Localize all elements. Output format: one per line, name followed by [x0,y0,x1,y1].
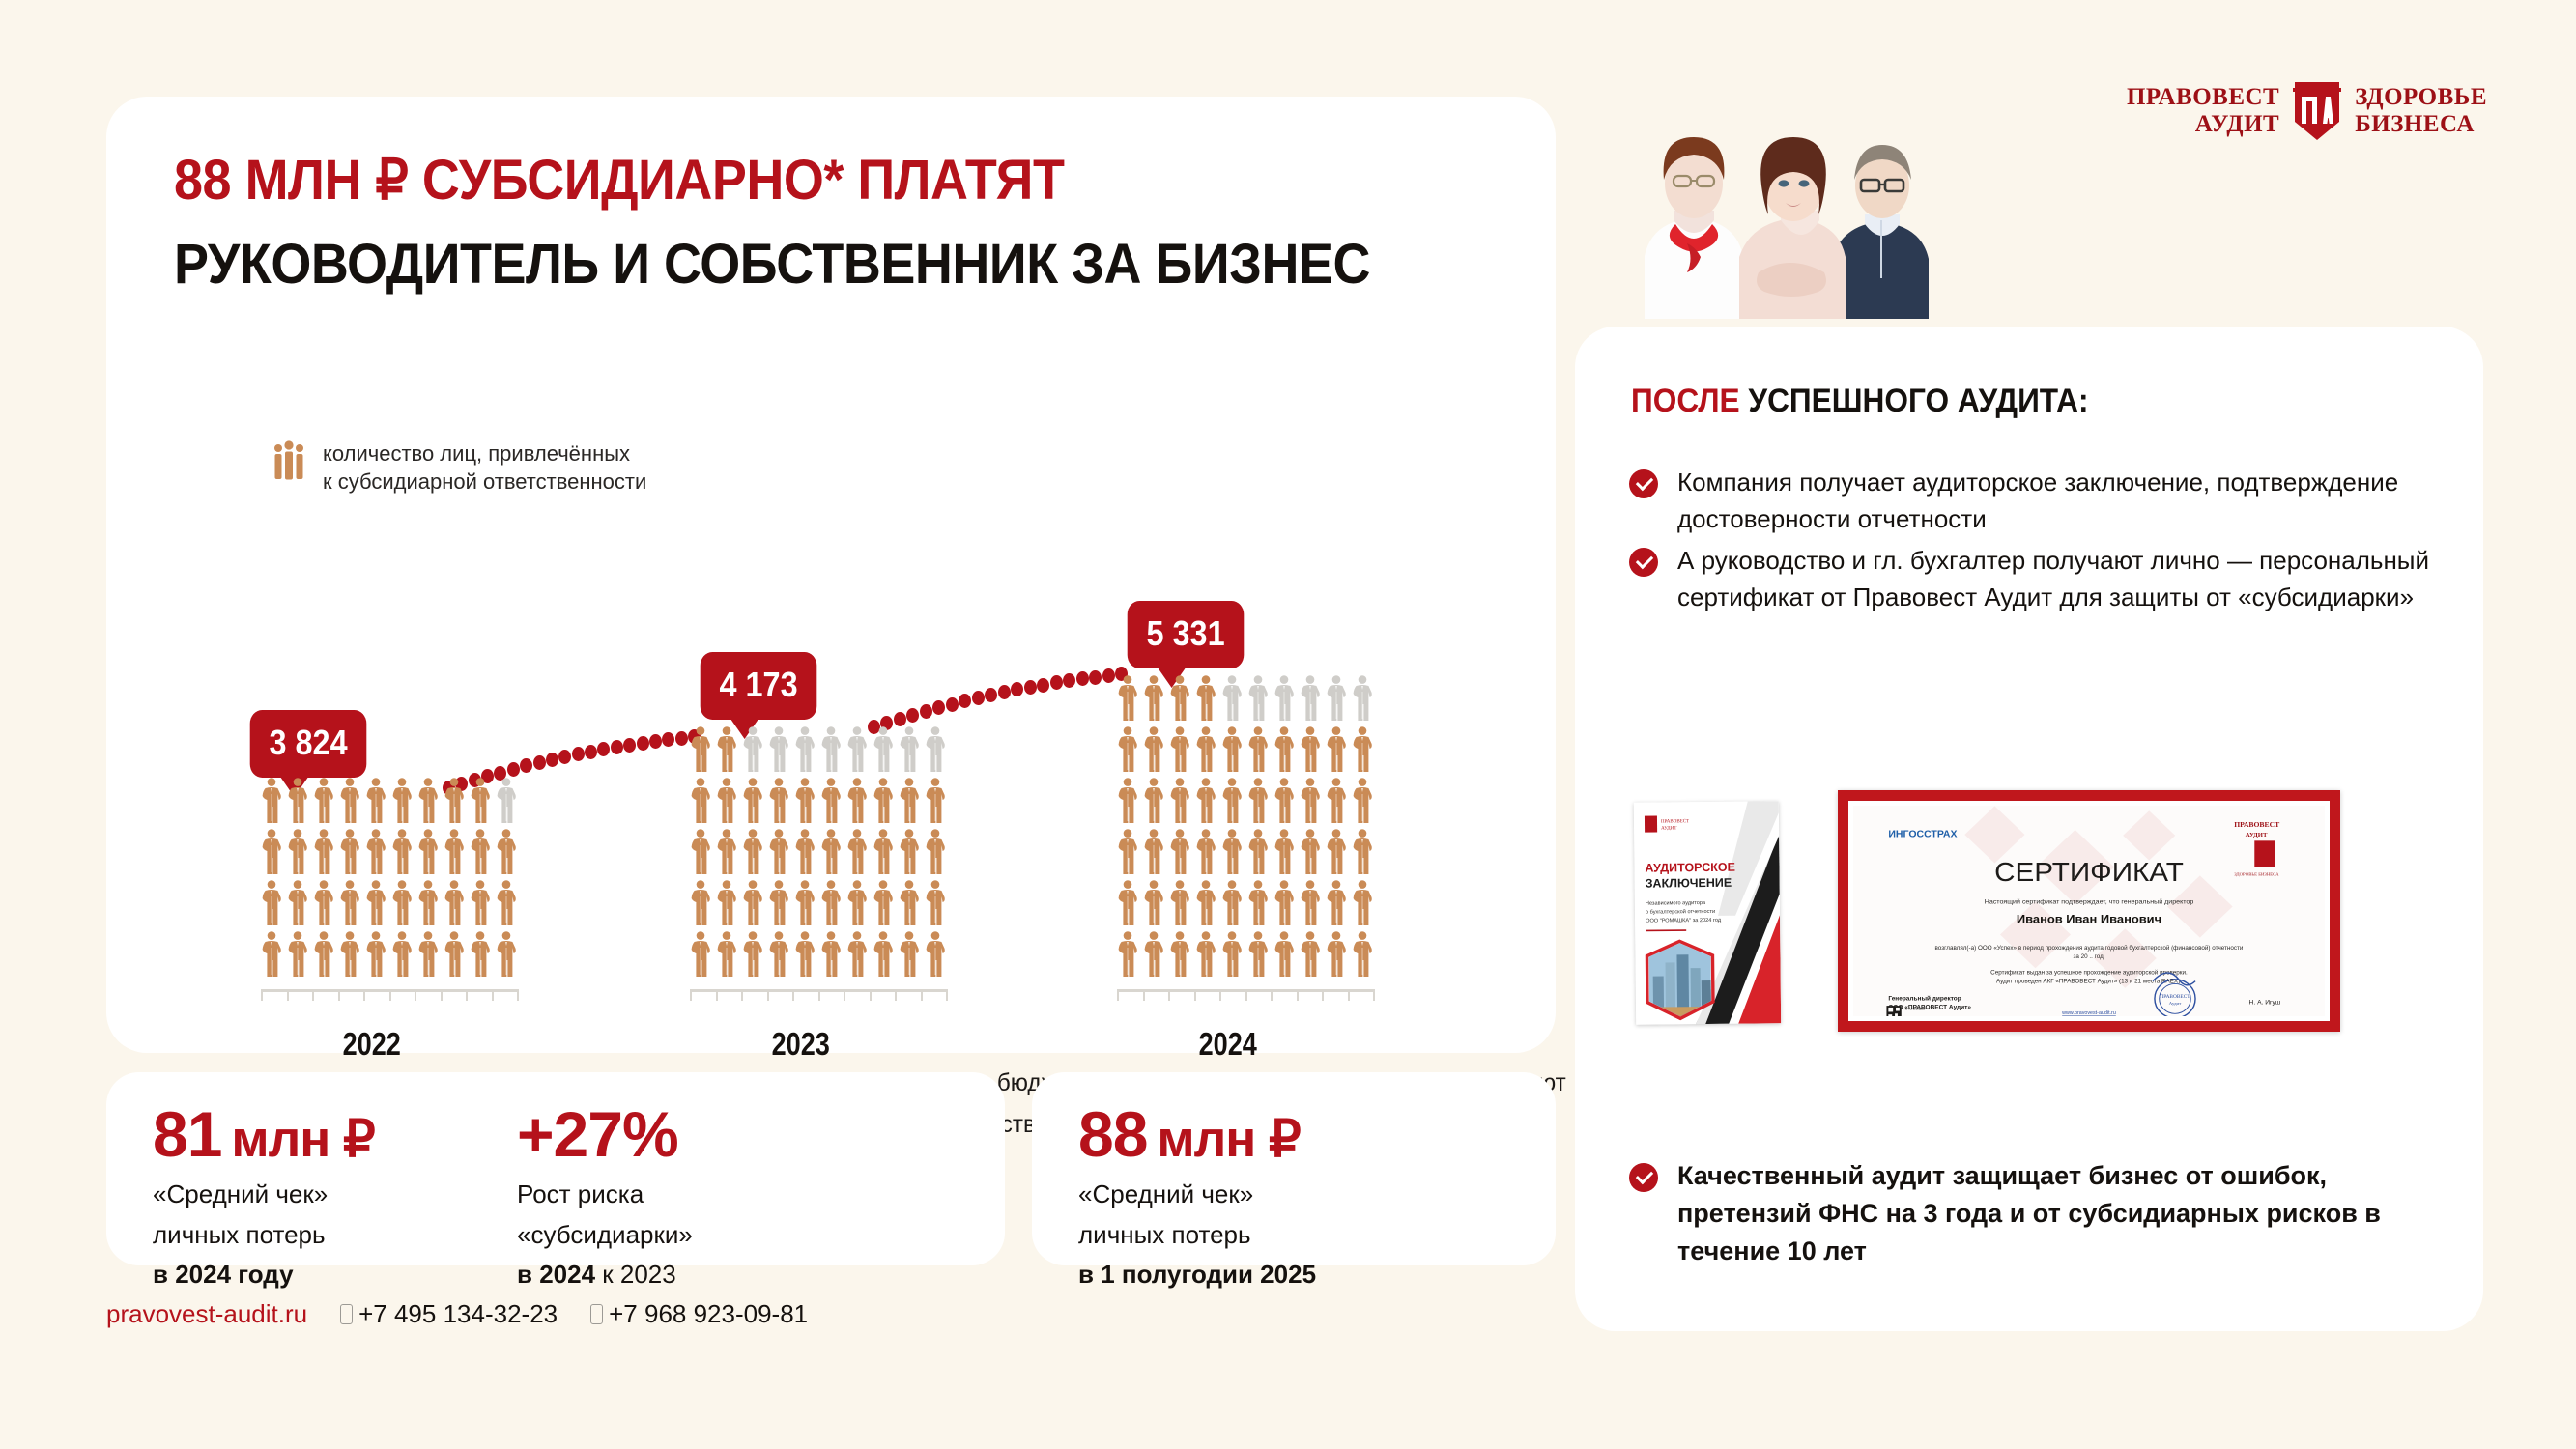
svg-text:АУДИТ: АУДИТ [2246,832,2268,838]
axis-label-2024: 2024 [1199,1026,1257,1063]
person-icon [365,931,386,978]
pictogram-row [261,931,517,978]
person-icon [1247,829,1269,875]
person-icon [1221,880,1243,926]
axis-tick [287,989,289,1001]
svg-text:ЗАКЛЮЧЕНИЕ: ЗАКЛЮЧЕНИЕ [1646,876,1732,891]
person-icon [690,829,711,875]
person-icon [339,778,360,824]
phone-1-label: +7 495 134-32-23 [358,1299,558,1329]
footer-contacts: pravovest-audit.ru +7 495 134-32-23 +7 9… [106,1299,808,1329]
pictogram-row [1117,778,1373,824]
axis-tick [690,989,692,1001]
axis-tick [415,989,416,1001]
stat-line-3: в 2024 году [153,1255,375,1295]
person-icon [846,880,868,926]
stat-card-plus27: +27% Рост риска «субсидиарки» в 2024 к 2… [517,1097,693,1295]
person-icon [1300,829,1321,875]
axis-tick [1297,989,1299,1001]
axis-tick [1219,989,1221,1001]
trend-dot [1063,673,1075,688]
person-icon [365,880,386,926]
check-circle-icon [1629,1163,1658,1192]
pictogram-rows [690,726,946,978]
person-icon [1326,675,1347,722]
trend-dot [572,747,585,761]
person-icon [768,931,789,978]
trend-dot [637,736,649,751]
person-icon [742,778,763,824]
trend-dot [611,740,623,754]
person-icon [313,829,334,875]
person-icon [287,778,308,824]
stat-value-27: +27% [517,1097,693,1171]
trend-dot [1011,682,1023,696]
person-icon [1169,829,1190,875]
shield-logo-icon [2292,79,2342,143]
person-icon [1169,675,1190,722]
person-icon [1169,726,1190,773]
axis-tick [1194,989,1196,1001]
person-icon [716,829,737,875]
axis-tick [389,989,391,1001]
person-icon [339,880,360,926]
phone-1[interactable]: +7 495 134-32-23 [340,1299,558,1329]
trend-dot [520,758,532,773]
person-icon [1247,726,1269,773]
audit-report-cover: ПРАВОВЕСТ АУДИТ АУДИТОРСКОЕ ЗАКЛЮЧЕНИЕ Н… [1634,801,1781,1025]
person-icon [1352,880,1373,926]
person-icon [444,931,465,978]
trend-dot [894,712,906,726]
axis-tick [1143,989,1145,1001]
person-icon [899,778,920,824]
person-icon [444,778,465,824]
person-icon [1326,726,1347,773]
trend-dot [558,750,571,764]
pictogram-row [261,829,517,875]
person-icon [1143,880,1164,926]
person-icon [1326,778,1347,824]
person-icon [1274,931,1295,978]
person-icon [470,931,491,978]
trend-dot [985,688,997,702]
people-group-icon [272,440,305,482]
person-icon [391,880,413,926]
trend-dot [959,694,971,708]
axis-tick [466,989,468,1001]
axis-tick [517,989,519,1001]
person-icon [1300,675,1321,722]
person-icon [873,880,894,926]
axis-tick [261,989,263,1001]
trend-dot [1024,680,1037,695]
trend-dot [998,685,1011,699]
logo-right-text: ЗДОРОВЬЕ БИЗНЕСА [2355,84,2487,138]
person-icon [287,880,308,926]
benefits-list: Компания получает аудиторское заключение… [1629,464,2431,620]
person-icon [1143,726,1164,773]
svg-text:АУДИТОРСКОЕ: АУДИТОРСКОЕ [1645,861,1735,875]
person-icon [1326,880,1347,926]
person-icon [768,778,789,824]
trend-dot [1089,670,1102,685]
person-icon [339,931,360,978]
person-icon [925,829,946,875]
person-icon [417,778,439,824]
person-icon [1221,829,1243,875]
axis-tick [1373,989,1375,1001]
axis-tick [921,989,923,1001]
person-icon [391,829,413,875]
person-icon [1274,829,1295,875]
chart-legend-label: количество лиц, привлечённых к субсидиар… [323,440,646,496]
axis-label-2022: 2022 [343,1026,401,1063]
trend-dot [675,731,688,746]
person-icon [496,931,517,978]
personal-certificate: ИНГОССТРАХ ПРАВОВЕСТ АУДИТ ЗДОРОВЬЕ БИЗН… [1838,790,2340,1032]
certificate-images: ПРАВОВЕСТ АУДИТ АУДИТОРСКОЕ ЗАКЛЮЧЕНИЕ Н… [1635,790,2447,1138]
person-icon [768,726,789,773]
person-icon [470,778,491,824]
stat-card-88mln: 88млн ₽ «Средний чек» личных потерь в 1 … [1032,1072,1556,1265]
axis-tick [792,989,794,1001]
person-icon [690,931,711,978]
person-icon [925,726,946,773]
person-icon [873,778,894,824]
person-icon [1247,675,1269,722]
person-icon [716,726,737,773]
pictogram-row [261,778,517,824]
person-icon [846,726,868,773]
person-icon [1195,829,1216,875]
trend-dot [597,742,610,756]
chart-axis [261,989,517,1005]
person-icon [1352,931,1373,978]
person-icon [261,931,282,978]
stat-value-88: 88млн ₽ [1078,1097,1316,1171]
pictogram-rows [261,778,517,978]
person-icon [1143,675,1164,722]
person-icon [287,931,308,978]
axis-tick [1117,989,1119,1001]
person-icon [287,829,308,875]
stat-line-1: Рост риска [517,1175,693,1215]
pictogram-row [261,880,517,926]
pictogram-row [1117,931,1373,978]
person-icon [899,880,920,926]
axis-tick [1245,989,1247,1001]
stat-line-2: «субсидиарки» [517,1215,693,1256]
person-icon [925,778,946,824]
person-icon [794,726,816,773]
person-icon [1117,829,1138,875]
person-icon [716,880,737,926]
person-icon [1169,778,1190,824]
person-icon [1221,675,1243,722]
heading-red-part: ПОСЛЕ [1631,383,1740,419]
website-link[interactable]: pravovest-audit.ru [106,1299,307,1329]
person-icon [496,778,517,824]
svg-text:Аудит: Аудит [2169,1002,2181,1007]
svg-text:www.pravovest-audit.ru: www.pravovest-audit.ru [2062,1010,2116,1016]
person-icon [417,829,439,875]
phone-2-label: +7 968 923-09-81 [609,1299,808,1329]
list-item: А руководство и гл. бухгалтер получают л… [1629,542,2431,616]
svg-text:ЗДОРОВЬЕ БИЗНЕСА: ЗДОРОВЬЕ БИЗНЕСА [2234,873,2279,878]
final-benefit: Качественный аудит защищает бизнес от ош… [1629,1157,2450,1270]
value-badge-2023: 4 173 [701,652,817,720]
person-icon [1352,778,1373,824]
svg-text:Независимого аудитора: Независимого аудитора [1646,900,1706,907]
page-title-black: РУКОВОДИТЕЛЬ И СОБСТВЕННИК ЗА БИЗНЕС [174,232,1370,297]
axis-tick [946,989,948,1001]
axis-tick [1168,989,1170,1001]
trend-dot [546,753,558,767]
person-icon [690,880,711,926]
svg-text:Настоящий сертификат подтвержд: Настоящий сертификат подтверждает, что г… [1985,898,2194,906]
person-icon [742,880,763,926]
person-icon [1117,675,1138,722]
phone-2[interactable]: +7 968 923-09-81 [590,1299,808,1329]
after-audit-card: ПОСЛЕ УСПЕШНОГО АУДИТА: Компания получае… [1575,327,2483,1331]
person-icon [1326,829,1347,875]
axis-tick [741,989,743,1001]
pictogram-column-2023 [690,726,946,1005]
person-icon [1117,726,1138,773]
mobile-phone-icon [590,1304,603,1324]
person-icon [768,829,789,875]
axis-tick [767,989,769,1001]
person-icon [1300,931,1321,978]
person-icon [1195,931,1216,978]
person-icon [313,880,334,926]
person-icon [846,778,868,824]
person-icon [1117,931,1138,978]
trend-dot [1037,678,1049,693]
person-icon [1169,880,1190,926]
pictogram-column-2022 [261,778,517,1005]
check-circle-icon [1629,548,1658,577]
person-icon [794,880,816,926]
axis-tick [312,989,314,1001]
person-icon [1274,726,1295,773]
person-icon [899,829,920,875]
list-item: Компания получает аудиторское заключение… [1629,464,2431,538]
svg-text:АУДИТ: АУДИТ [1661,826,1676,831]
person-icon [794,778,816,824]
stat-value-81: 81млн ₽ [153,1097,375,1171]
svg-text:возглавлял(-а) ООО «Успех» в п: возглавлял(-а) ООО «Успех» в период прох… [1935,945,2244,952]
axis-tick [441,989,443,1001]
trend-dot [932,700,945,715]
person-icon [1247,880,1269,926]
svg-text:о бухгалтерской отчетности: о бухгалтерской отчетности [1646,908,1715,916]
svg-text:г. Москва: г. Москва [1905,1007,1926,1011]
after-audit-heading: ПОСЛЕ УСПЕШНОГО АУДИТА: [1631,383,2088,420]
stat-line-2: личных потерь [1078,1215,1316,1256]
stat-line-2: личных потерь [153,1215,375,1256]
svg-text:Иванов Иван Иванович: Иванов Иван Иванович [2017,913,2161,926]
axis-tick [818,989,820,1001]
person-icon [1143,931,1164,978]
person-icon [690,778,711,824]
legend-line-2: к субсидиарной ответственности [323,469,646,494]
person-icon [470,829,491,875]
person-icon [925,931,946,978]
person-icon [1274,675,1295,722]
person-icon [313,778,334,824]
axis-tick [1348,989,1350,1001]
svg-text:ПРАВОВЕСТ: ПРАВОВЕСТ [2234,820,2279,829]
infographic-page: 88 МЛН ₽ СУБСИДИАРНО* ПЛАТЯТ РУКОВОДИТЕЛ… [0,0,2576,1449]
person-icon [313,931,334,978]
person-icon [794,931,816,978]
pictogram-rows [1117,675,1373,978]
person-icon [873,829,894,875]
axis-tick [338,989,340,1001]
person-icon [365,778,386,824]
axis-tick [1322,989,1324,1001]
svg-text:СЕРТИФИКАТ: СЕРТИФИКАТ [1994,858,2184,888]
three-auditors-photo [1604,39,1942,319]
trend-dot [1076,671,1089,686]
svg-text:ИНГОССТРАХ: ИНГОССТРАХ [1888,830,1957,840]
stat-line-3: в 1 полугодии 2025 [1078,1255,1316,1295]
mobile-phone-icon [340,1304,353,1324]
person-icon [1117,880,1138,926]
person-icon [496,829,517,875]
person-icon [1300,880,1321,926]
pictogram-row [1117,675,1373,722]
person-icon [261,880,282,926]
person-icon [1274,778,1295,824]
person-icon [1195,880,1216,926]
trend-dot [1102,668,1115,683]
person-icon [899,931,920,978]
person-icon [899,726,920,773]
person-icon [768,880,789,926]
person-icon [742,829,763,875]
stat-line-1: «Средний чек» [1078,1175,1316,1215]
person-icon [444,880,465,926]
svg-text:Генеральный директор: Генеральный директор [1888,995,1961,1003]
pictogram-row [690,931,946,978]
person-icon [1221,726,1243,773]
person-icon [261,778,282,824]
person-icon [365,829,386,875]
person-icon [470,880,491,926]
axis-tick [1271,989,1273,1001]
axis-tick [716,989,718,1001]
trend-dot [906,708,919,723]
chart-axis [1117,989,1373,1005]
trend-dot [649,734,662,749]
person-icon [716,778,737,824]
value-badge-2024: 5 331 [1128,601,1245,668]
person-icon [820,778,842,824]
axis-tick [844,989,845,1001]
logo-left-text: ПРАВОВЕСТ АУДИТ [2127,84,2279,138]
axis-tick [492,989,494,1001]
heading-black-part: УСПЕШНОГО АУДИТА: [1740,383,2089,419]
stat-line-1: «Средний чек» [153,1175,375,1215]
pictogram-row [690,778,946,824]
trend-dot [972,691,985,705]
person-icon [873,726,894,773]
svg-text:ПРАВОВЕСТ: ПРАВОВЕСТ [1661,819,1689,824]
chart-axis [690,989,946,1005]
stat-line-3: в 2024 к 2023 [517,1255,693,1295]
person-icon [1143,778,1164,824]
pictogram-row [690,829,946,875]
pictogram-column-2024 [1117,675,1373,1005]
trend-dot [623,738,636,753]
trend-dot [507,762,520,777]
person-icon [820,931,842,978]
svg-text:ПРАВОВЕСТ: ПРАВОВЕСТ [2160,994,2190,1000]
person-icon [742,726,763,773]
final-benefit-text: Качественный аудит защищает бизнес от ош… [1677,1157,2450,1270]
pictogram-row [1117,829,1373,875]
pictogram-row [690,726,946,773]
person-icon [1195,778,1216,824]
stat-card-81mln: 81млн ₽ «Средний чек» личных потерь в 20… [153,1097,375,1295]
trend-dot [662,732,674,747]
person-icon [1169,931,1190,978]
person-icon [391,778,413,824]
benefit-text: Компания получает аудиторское заключение… [1677,464,2431,538]
check-circle-icon [1629,469,1658,498]
axis-tick [870,989,872,1001]
person-icon [339,829,360,875]
pictogram-row [1117,726,1373,773]
pictogram-chart: 3 824 4 173 5 331 [261,512,1517,1005]
page-title-red: 88 МЛН ₽ СУБСИДИАРНО* ПЛАТЯТ [174,147,1064,213]
person-icon [417,880,439,926]
person-icon [1300,726,1321,773]
svg-text:за 20 .. год.: за 20 .. год. [2073,953,2104,960]
trend-dot [533,755,546,770]
person-icon [1326,931,1347,978]
person-icon [1247,931,1269,978]
person-icon [1143,829,1164,875]
person-icon [1352,829,1373,875]
person-icon [261,829,282,875]
trend-dot [1050,675,1063,690]
person-icon [1195,675,1216,722]
stat-card-group-left: 81млн ₽ «Средний чек» личных потерь в 20… [106,1072,1005,1265]
person-icon [1274,880,1295,926]
person-icon [690,726,711,773]
axis-label-2023: 2023 [772,1026,830,1063]
person-icon [1195,726,1216,773]
person-icon [1247,778,1269,824]
axis-tick [363,989,365,1001]
svg-text:Сертификат выдан за успешное п: Сертификат выдан за успешное прохождение… [1990,970,2188,977]
value-badge-2022: 3 824 [250,710,367,778]
person-icon [820,726,842,773]
person-icon [1221,931,1243,978]
main-chart-card: 88 МЛН ₽ СУБСИДИАРНО* ПЛАТЯТ РУКОВОДИТЕЛ… [106,97,1556,1053]
benefit-text: А руководство и гл. бухгалтер получают л… [1677,542,2431,616]
axis-tick [895,989,897,1001]
svg-text:Н. А. Игуш: Н. А. Игуш [2249,999,2281,1006]
person-icon [1300,778,1321,824]
company-logo: ПРАВОВЕСТ АУДИТ ЗДОРОВЬЕ БИЗНЕСА [2127,79,2487,143]
person-icon [716,931,737,978]
person-icon [1221,778,1243,824]
